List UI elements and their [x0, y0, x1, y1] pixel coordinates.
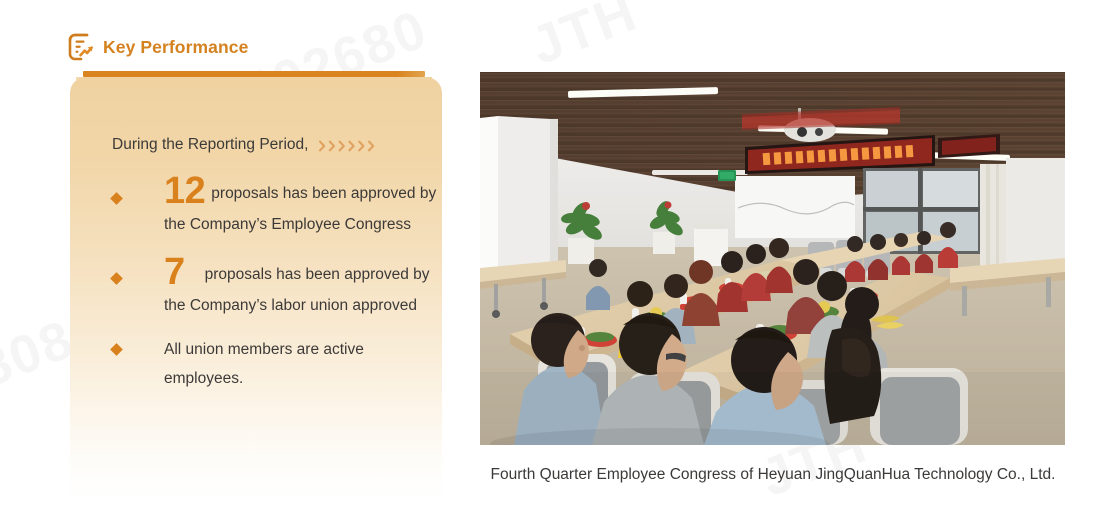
photo-caption: Fourth Quarter Employee Congress of Heyu… [470, 462, 1076, 488]
bullet-metric-number: 12 [164, 170, 211, 212]
bullet-text-block: 7proposals has been approved by the Comp… [164, 253, 442, 320]
diamond-bullet-icon [110, 343, 123, 356]
intro-line: During the Reporting Period, [112, 136, 380, 154]
panel-title: Key Performance [103, 37, 248, 58]
bullet-item: All union members are active employees. [112, 335, 442, 393]
bullet-text-block: 12proposals has been approved by the Com… [164, 172, 442, 239]
intro-text: During the Reporting Period, [112, 136, 308, 154]
chevrons-right-icon [318, 139, 380, 153]
bullet-text-block: All union members are active employees. [164, 335, 442, 393]
panel-header: Key Performance [68, 30, 248, 64]
key-performance-panel: Key Performance During the Reporting Per… [62, 30, 440, 500]
bullet-list: 12proposals has been approved by the Com… [112, 172, 442, 393]
bullet-label: All union members are active employees. [164, 341, 364, 387]
bullet-item: 7proposals has been approved by the Comp… [112, 253, 442, 320]
employee-congress-meeting-photo [480, 72, 1065, 445]
bullet-metric-number: 7 [164, 251, 205, 293]
photo-container [480, 72, 1065, 445]
content-card: During the Reporting Period, [70, 77, 442, 500]
bullet-item: 12proposals has been approved by the Com… [112, 172, 442, 239]
diamond-bullet-icon [110, 272, 123, 285]
background-watermark: JTH [522, 0, 645, 77]
report-chart-icon [68, 33, 94, 61]
diamond-bullet-icon [110, 192, 123, 205]
